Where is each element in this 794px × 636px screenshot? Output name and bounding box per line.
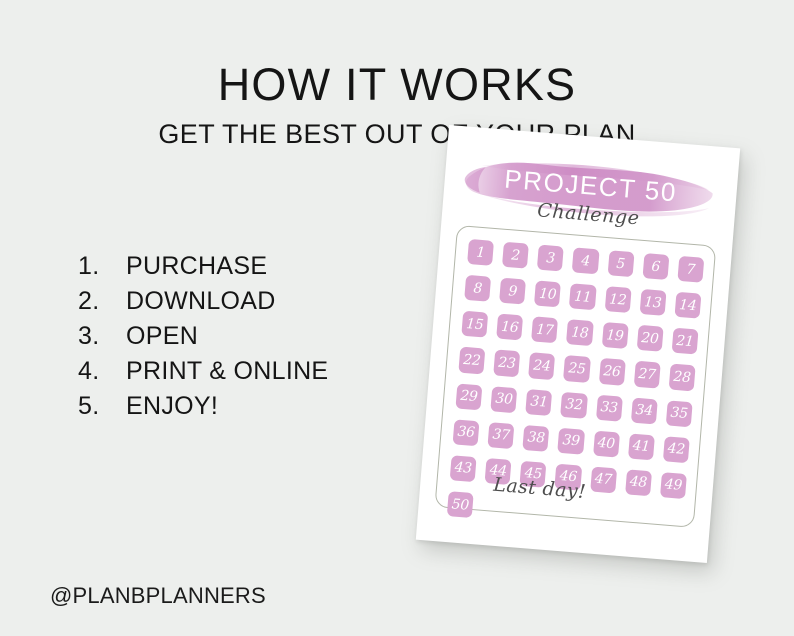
day-box[interactable]: 17 — [531, 317, 558, 344]
day-box[interactable]: 13 — [639, 289, 666, 316]
day-box[interactable]: 18 — [566, 319, 593, 346]
day-box[interactable]: 41 — [628, 433, 655, 460]
watermark-handle: @PLANBPLANNERS — [50, 583, 266, 609]
day-box[interactable]: 15 — [461, 311, 488, 338]
day-box[interactable]: 11 — [569, 283, 596, 310]
day-box[interactable]: 24 — [528, 353, 555, 380]
step-number: 5. — [78, 389, 126, 424]
day-box[interactable]: 16 — [496, 314, 523, 341]
step-item: 2.DOWNLOAD — [78, 284, 328, 319]
step-label: PURCHASE — [126, 249, 267, 284]
day-box[interactable]: 38 — [523, 425, 550, 452]
step-number: 1. — [78, 249, 126, 284]
day-box[interactable]: 33 — [596, 394, 623, 421]
step-label: PRINT & ONLINE — [126, 354, 328, 389]
day-box[interactable]: 19 — [601, 322, 628, 349]
day-box[interactable]: 2 — [502, 242, 529, 269]
step-label: DOWNLOAD — [126, 284, 276, 319]
day-box[interactable]: 25 — [563, 355, 590, 382]
card-paper: PROJECT 50 Challenge 1234567891011121314… — [416, 125, 740, 563]
step-number: 3. — [78, 319, 126, 354]
step-label: OPEN — [126, 319, 198, 354]
day-box[interactable]: 50 — [447, 491, 474, 518]
step-number: 2. — [78, 284, 126, 319]
day-box[interactable]: 9 — [499, 278, 526, 305]
day-box[interactable]: 5 — [607, 250, 634, 277]
day-grid-frame: 1234567891011121314151617181920212223242… — [434, 225, 716, 528]
day-box[interactable]: 34 — [631, 397, 658, 424]
day-box[interactable]: 35 — [666, 400, 693, 427]
day-box[interactable]: 48 — [625, 469, 652, 496]
step-item: 4.PRINT & ONLINE — [78, 354, 328, 389]
page-title: HOW IT WORKS — [0, 59, 794, 111]
day-box[interactable]: 7 — [677, 256, 704, 283]
step-number: 4. — [78, 354, 126, 389]
day-box[interactable]: 12 — [604, 286, 631, 313]
day-box[interactable]: 1 — [467, 239, 494, 266]
day-box[interactable]: 28 — [669, 364, 696, 391]
day-box[interactable]: 42 — [663, 436, 690, 463]
day-box[interactable]: 36 — [453, 419, 480, 446]
day-box[interactable]: 30 — [490, 386, 517, 413]
steps-list: 1.PURCHASE2.DOWNLOAD3.OPEN4.PRINT & ONLI… — [78, 249, 328, 424]
day-box[interactable]: 8 — [464, 275, 491, 302]
day-box[interactable]: 26 — [598, 358, 625, 385]
day-box[interactable]: 40 — [593, 430, 620, 457]
day-box[interactable]: 29 — [455, 383, 482, 410]
day-box[interactable]: 21 — [671, 328, 698, 355]
step-item: 1.PURCHASE — [78, 249, 328, 284]
day-box[interactable]: 32 — [561, 391, 588, 418]
day-box[interactable]: 20 — [636, 325, 663, 352]
day-box[interactable]: 49 — [660, 472, 687, 499]
project-50-card: PROJECT 50 Challenge 1234567891011121314… — [416, 125, 740, 563]
day-box[interactable]: 31 — [526, 389, 553, 416]
day-box[interactable]: 37 — [488, 422, 515, 449]
day-box[interactable]: 22 — [458, 347, 485, 374]
day-box[interactable]: 10 — [534, 281, 561, 308]
day-box[interactable]: 3 — [537, 245, 564, 272]
day-box[interactable]: 39 — [558, 428, 585, 455]
step-label: ENJOY! — [126, 389, 218, 424]
day-box[interactable]: 27 — [634, 361, 661, 388]
step-item: 3.OPEN — [78, 319, 328, 354]
step-item: 5.ENJOY! — [78, 389, 328, 424]
day-box[interactable]: 14 — [674, 292, 701, 319]
day-box[interactable]: 47 — [590, 466, 617, 493]
day-box[interactable]: 6 — [642, 253, 669, 280]
day-box[interactable]: 23 — [493, 350, 520, 377]
day-box[interactable]: 43 — [450, 455, 477, 482]
day-box[interactable]: 4 — [572, 247, 599, 274]
